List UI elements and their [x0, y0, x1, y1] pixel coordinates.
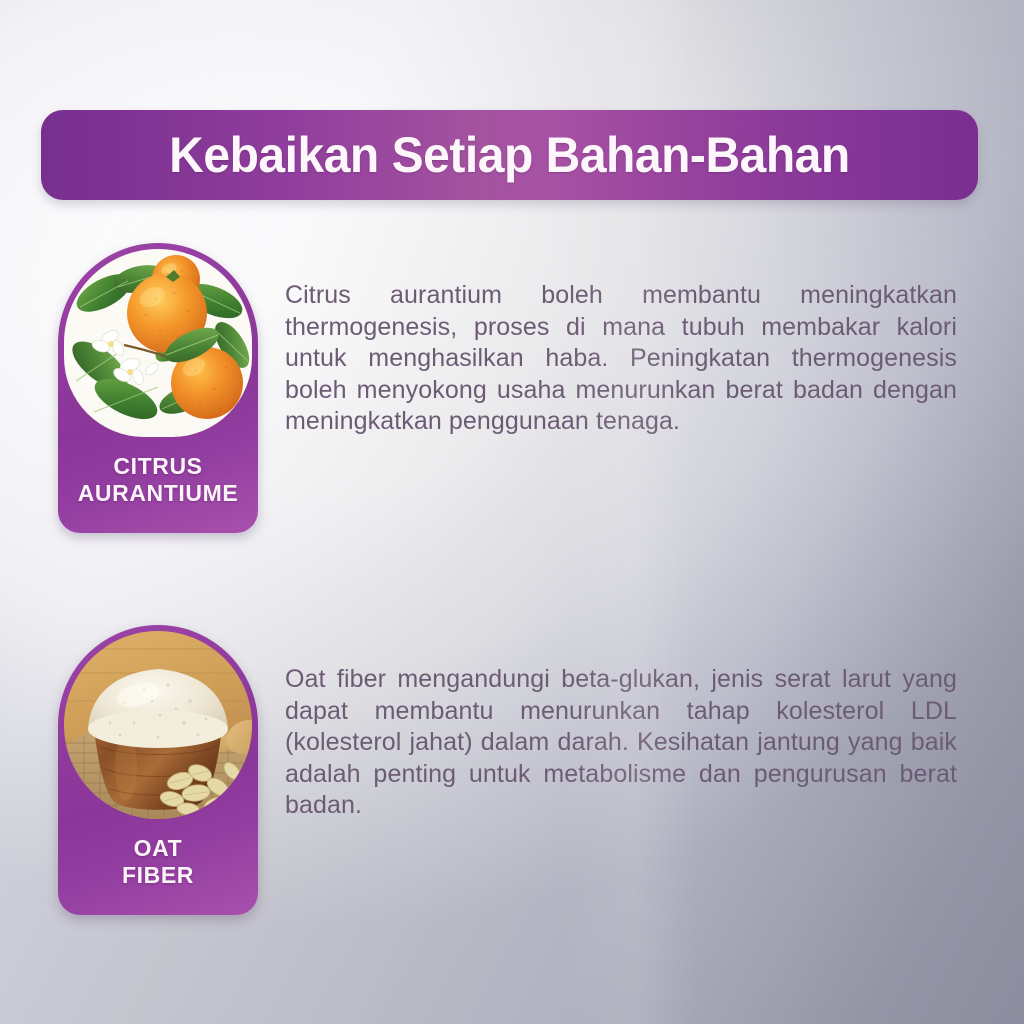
oat-label-line1: OAT: [134, 835, 183, 861]
ingredient-row-oat-fiber: OAT FIBER Oat fiber mengandungi beta-glu…: [58, 625, 957, 915]
citrus-label-line2: AURANTIUME: [78, 480, 239, 506]
header-banner: Kebaikan Setiap Bahan-Bahan: [41, 110, 978, 200]
ingredient-card-oat-fiber: OAT FIBER: [58, 625, 258, 915]
citrus-label-line1: CITRUS: [113, 453, 202, 479]
oat-fiber-photo: [64, 631, 252, 819]
oat-label-line2: FIBER: [122, 862, 194, 888]
ingredient-row-citrus-aurantiume: CITRUS AURANTIUME Citrus aurantium boleh…: [58, 243, 957, 533]
citrus-aurantiume-label: CITRUS AURANTIUME: [58, 453, 258, 507]
oat-fiber-description: Oat fiber mengandungi beta-glukan, jenis…: [285, 625, 957, 915]
citrus-aurantiume-photo: [64, 249, 252, 437]
citrus-aurantiume-description: Citrus aurantium boleh membantu meningka…: [285, 243, 957, 533]
page-title: Kebaikan Setiap Bahan-Bahan: [169, 130, 850, 180]
ingredient-card-citrus-aurantiume: CITRUS AURANTIUME: [58, 243, 258, 533]
oat-fiber-label: OAT FIBER: [58, 835, 258, 889]
ingredient-benefits-poster: Kebaikan Setiap Bahan-Bahan: [0, 0, 1024, 1024]
